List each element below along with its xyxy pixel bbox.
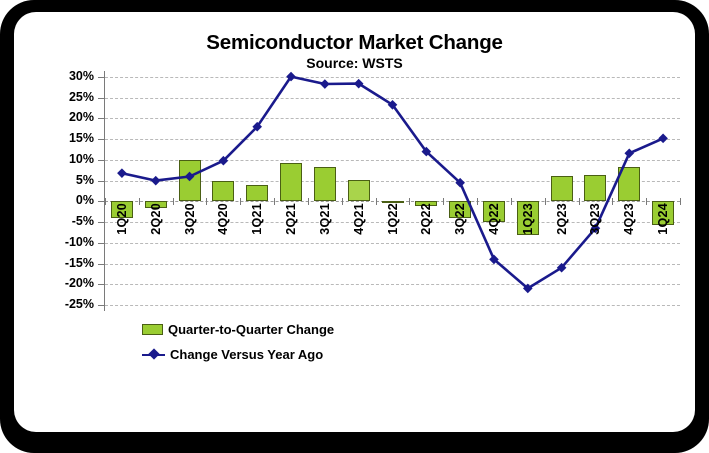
y-axis-label: 5% xyxy=(48,173,94,187)
legend-bar-label: Quarter-to-Quarter Change xyxy=(168,322,334,337)
chart-frame: Semiconductor Market Change Source: WSTS… xyxy=(0,0,709,453)
x-axis-label: 2Q23 xyxy=(555,203,569,235)
line-marker xyxy=(151,176,161,186)
y-axis-label: 0% xyxy=(48,193,94,207)
y-axis-tick xyxy=(98,284,105,285)
y-axis-tick xyxy=(98,243,105,244)
x-axis-label: 2Q21 xyxy=(284,203,298,235)
chart-subtitle: Source: WSTS xyxy=(14,55,695,71)
x-axis-tick xyxy=(680,198,681,205)
x-axis-label: 4Q22 xyxy=(487,203,501,235)
y-axis-label: 30% xyxy=(48,69,94,83)
legend-item-line: Change Versus Year Ago xyxy=(142,342,334,367)
x-axis-label: 1Q22 xyxy=(386,203,400,235)
legend-bar-swatch xyxy=(142,324,163,335)
x-axis-label: 3Q22 xyxy=(453,203,467,235)
y-axis-tick xyxy=(98,222,105,223)
y-axis-label: 25% xyxy=(48,90,94,104)
y-axis-label: -10% xyxy=(48,235,94,249)
line-marker xyxy=(658,134,668,144)
x-axis-label: 1Q24 xyxy=(656,203,670,235)
line-marker xyxy=(185,172,195,182)
y-axis-label: 15% xyxy=(48,131,94,145)
chart-canvas: Semiconductor Market Change Source: WSTS… xyxy=(14,12,695,432)
legend-line-swatch xyxy=(142,349,165,360)
y-axis-label: -15% xyxy=(48,256,94,270)
gridline xyxy=(105,305,680,306)
y-axis-tick xyxy=(98,160,105,161)
y-axis-label: -25% xyxy=(48,297,94,311)
chart-legend: Quarter-to-Quarter Change Change Versus … xyxy=(142,317,334,367)
x-axis-label: 1Q21 xyxy=(250,203,264,235)
y-axis-tick xyxy=(98,264,105,265)
y-axis-tick xyxy=(98,77,105,78)
x-axis-label: 4Q23 xyxy=(622,203,636,235)
line-marker xyxy=(320,79,330,89)
y-axis-tick xyxy=(98,305,105,306)
line-marker xyxy=(117,168,127,178)
legend-item-bar: Quarter-to-Quarter Change xyxy=(142,317,334,342)
y-axis-label: 20% xyxy=(48,110,94,124)
x-axis-label: 2Q22 xyxy=(419,203,433,235)
y-axis-label: -20% xyxy=(48,276,94,290)
x-axis-label: 3Q21 xyxy=(318,203,332,235)
y-axis-label: -5% xyxy=(48,214,94,228)
y-axis-tick xyxy=(98,118,105,119)
x-axis-label: 4Q20 xyxy=(216,203,230,235)
x-axis-label: 1Q20 xyxy=(115,203,129,235)
y-axis-label: 10% xyxy=(48,152,94,166)
y-axis-tick xyxy=(98,139,105,140)
legend-line-label: Change Versus Year Ago xyxy=(170,347,323,362)
y-axis-tick xyxy=(98,181,105,182)
x-axis-label: 4Q21 xyxy=(352,203,366,235)
y-axis-tick xyxy=(98,201,105,202)
chart-title: Semiconductor Market Change xyxy=(14,31,695,55)
x-axis-label: 3Q23 xyxy=(588,203,602,235)
line-marker xyxy=(624,148,634,158)
x-axis-label: 1Q23 xyxy=(521,203,535,235)
y-axis-tick xyxy=(98,98,105,99)
plot-area xyxy=(105,77,680,305)
x-axis-label: 3Q20 xyxy=(183,203,197,235)
line-series xyxy=(105,77,680,305)
x-axis-label: 2Q20 xyxy=(149,203,163,235)
